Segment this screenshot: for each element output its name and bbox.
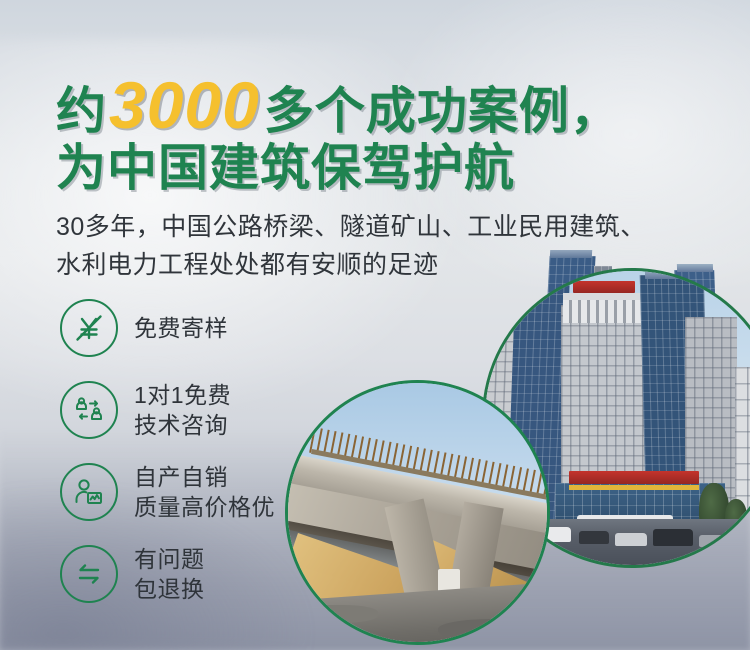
centre-balcony-band [563,299,643,323]
feature-item-return-exchange: 有问题 包退换 [60,542,275,606]
car [653,529,693,546]
subtitle: 30多年，中国公路桥梁、隧道矿山、工业民用建筑、 水利电力工程处处都有安顺的足迹 [56,208,736,284]
feature-label-line-1: 1对1免费 [134,380,231,410]
one-on-one-consult-icon [60,381,118,439]
headline-line-2: 为中国建筑保驾护航 [56,138,716,198]
return-exchange-icon [60,545,118,603]
car [615,533,647,546]
self-produced-quality-icon [60,463,118,521]
headline: 约3000多个成功案例， 为中国建筑保驾护航 [56,76,716,198]
feature-label-line-2: 质量高价格优 [134,492,275,522]
feature-label: 有问题 包退换 [134,544,205,604]
feature-list: 免费寄样 1对1免费 技术咨询 [60,296,275,624]
feature-item-free-sample: 免费寄样 [60,296,275,360]
feature-label: 自产自销 质量高价格优 [134,462,275,522]
feature-label-line-1: 有问题 [134,544,205,574]
entrance-sign-gold [569,485,699,490]
feature-label: 1对1免费 技术咨询 [134,380,231,440]
subtitle-line-2: 水利电力工程处处都有安顺的足迹 [56,246,736,284]
feature-label-line-2: 包退换 [134,574,205,604]
car [699,535,725,547]
no-fee-yuan-icon [60,299,118,357]
headline-suffix: 多个成功案例， [264,83,621,139]
headline-line-1: 约3000多个成功案例， [56,76,716,140]
feature-label-line-1: 自产自销 [134,462,275,492]
feature-label-line-2: 技术咨询 [134,410,231,440]
subtitle-line-1: 30多年，中国公路桥梁、隧道矿山、工业民用建筑、 [56,208,736,246]
promo-banner: 约3000多个成功案例， 为中国建筑保驾护航 30多年，中国公路桥梁、隧道矿山、… [0,0,750,650]
entrance-sign-red [569,471,699,484]
bridge-photo [285,380,550,645]
car [579,531,609,544]
headline-prefix: 约 [56,83,107,139]
headline-number: 3000 [107,68,264,142]
feature-label-line-1: 免费寄样 [134,315,228,341]
feature-item-consultation: 1对1免费 技术咨询 [60,378,275,442]
feature-label: 免费寄样 [134,313,228,343]
feature-item-self-produced: 自产自销 质量高价格优 [60,460,275,524]
